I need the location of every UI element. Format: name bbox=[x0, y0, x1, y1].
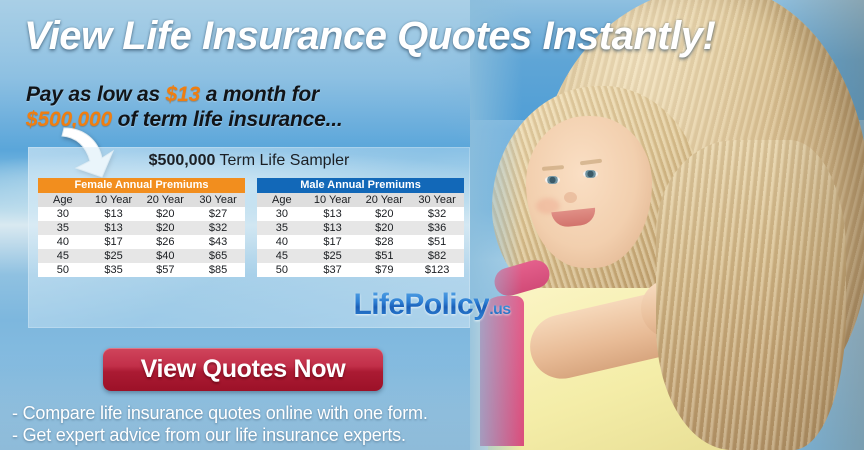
benefit-bullets: - Compare life insurance quotes online w… bbox=[12, 402, 482, 446]
child-face bbox=[526, 116, 652, 268]
cell-age: 35 bbox=[38, 221, 88, 235]
cell-20-year: $79 bbox=[358, 263, 410, 277]
cell-30-year: $123 bbox=[410, 263, 464, 277]
table: Age 10 Year 20 Year 30 Year 30 $13 $20 $… bbox=[38, 193, 245, 277]
logo-tld: .us bbox=[489, 301, 510, 318]
cell-10-year: $35 bbox=[88, 263, 140, 277]
cell-age: 50 bbox=[38, 263, 88, 277]
child-nose bbox=[564, 192, 577, 203]
table-row: 35 $13 $20 $32 bbox=[38, 221, 245, 235]
subhead-line2-post: of term life insurance... bbox=[112, 108, 343, 131]
panel-title-rest: Term Life Sampler bbox=[215, 152, 349, 169]
bullet-item: - Compare life insurance quotes online w… bbox=[12, 402, 482, 424]
cell-20-year: $20 bbox=[139, 221, 191, 235]
table-row: 50 $37 $79 $123 bbox=[257, 263, 464, 277]
cell-10-year: $17 bbox=[88, 235, 140, 249]
female-table-header: Female Annual Premiums bbox=[38, 178, 245, 193]
cell-30-year: $36 bbox=[410, 221, 464, 235]
table-row: 45 $25 $40 $65 bbox=[38, 249, 245, 263]
table-row: 50 $35 $57 $85 bbox=[38, 263, 245, 277]
cell-30-year: $27 bbox=[191, 207, 245, 221]
cell-age: 50 bbox=[257, 263, 307, 277]
cell-age: 35 bbox=[257, 221, 307, 235]
cell-20-year: $28 bbox=[358, 235, 410, 249]
cell-10-year: $25 bbox=[88, 249, 140, 263]
cell-10-year: $17 bbox=[307, 235, 359, 249]
cell-20-year: $40 bbox=[139, 249, 191, 263]
cell-10-year: $13 bbox=[307, 221, 359, 235]
column-header-10-year: 10 Year bbox=[88, 193, 140, 207]
mother-and-child-photo bbox=[470, 0, 864, 450]
cell-10-year: $13 bbox=[88, 207, 140, 221]
child-eye-left bbox=[545, 176, 560, 184]
table: Age 10 Year 20 Year 30 Year 30 $13 $20 $… bbox=[257, 193, 464, 277]
table-row: 40 $17 $26 $43 bbox=[38, 235, 245, 249]
ad-banner: View Life Insurance Quotes Instantly! Pa… bbox=[0, 0, 864, 450]
cell-age: 30 bbox=[38, 207, 88, 221]
cell-20-year: $20 bbox=[139, 207, 191, 221]
female-premium-table: Female Annual Premiums Age 10 Year 20 Ye… bbox=[38, 178, 245, 277]
cell-30-year: $32 bbox=[191, 221, 245, 235]
site-logo[interactable]: LifePolicy.us bbox=[0, 288, 864, 322]
column-header-20-year: 20 Year bbox=[139, 193, 191, 207]
column-header-10-year: 10 Year bbox=[307, 193, 359, 207]
table-row: 30 $13 $20 $32 bbox=[257, 207, 464, 221]
table-row: 45 $25 $51 $82 bbox=[257, 249, 464, 263]
table-header-row: Age 10 Year 20 Year 30 Year bbox=[257, 193, 464, 207]
cell-age: 40 bbox=[38, 235, 88, 249]
cell-age: 30 bbox=[257, 207, 307, 221]
cell-30-year: $43 bbox=[191, 235, 245, 249]
bullet-item: - Get expert advice from our life insura… bbox=[12, 424, 482, 446]
cell-20-year: $57 bbox=[139, 263, 191, 277]
cell-20-year: $26 bbox=[139, 235, 191, 249]
column-header-30-year: 30 Year bbox=[410, 193, 464, 207]
subhead-price-monthly: $13 bbox=[166, 83, 200, 106]
male-premium-table: Male Annual Premiums Age 10 Year 20 Year… bbox=[257, 178, 464, 277]
premium-tables: Female Annual Premiums Age 10 Year 20 Ye… bbox=[38, 178, 464, 277]
cell-30-year: $51 bbox=[410, 235, 464, 249]
cell-10-year: $37 bbox=[307, 263, 359, 277]
cell-30-year: $32 bbox=[410, 207, 464, 221]
table-header-row: Age 10 Year 20 Year 30 Year bbox=[38, 193, 245, 207]
cell-10-year: $13 bbox=[307, 207, 359, 221]
photo-left-fade bbox=[470, 0, 522, 450]
panel-title: $500,000 Term Life Sampler bbox=[28, 152, 470, 170]
child-eye-right bbox=[583, 170, 598, 178]
column-header-20-year: 20 Year bbox=[358, 193, 410, 207]
cell-10-year: $25 bbox=[307, 249, 359, 263]
page-title: View Life Insurance Quotes Instantly! bbox=[24, 14, 715, 59]
male-table-header: Male Annual Premiums bbox=[257, 178, 464, 193]
cell-age: 40 bbox=[257, 235, 307, 249]
cell-age: 45 bbox=[38, 249, 88, 263]
logo-name: LifePolicy bbox=[353, 288, 489, 321]
cell-30-year: $82 bbox=[410, 249, 464, 263]
cell-20-year: $20 bbox=[358, 221, 410, 235]
column-header-30-year: 30 Year bbox=[191, 193, 245, 207]
cell-10-year: $13 bbox=[88, 221, 140, 235]
panel-title-amount: $500,000 bbox=[149, 152, 216, 169]
table-row: 35 $13 $20 $36 bbox=[257, 221, 464, 235]
subhead-line1-post: a month for bbox=[200, 83, 319, 106]
column-header-age: Age bbox=[257, 193, 307, 207]
table-row: 30 $13 $20 $27 bbox=[38, 207, 245, 221]
cell-30-year: $85 bbox=[191, 263, 245, 277]
table-row: 40 $17 $28 $51 bbox=[257, 235, 464, 249]
view-quotes-now-button[interactable]: View Quotes Now bbox=[103, 348, 383, 391]
cell-age: 45 bbox=[257, 249, 307, 263]
column-header-age: Age bbox=[38, 193, 88, 207]
cell-20-year: $51 bbox=[358, 249, 410, 263]
photo-right-shadow bbox=[770, 0, 864, 450]
cell-30-year: $65 bbox=[191, 249, 245, 263]
cell-20-year: $20 bbox=[358, 207, 410, 221]
subheadline: Pay as low as $13 a month for $500,000 o… bbox=[26, 82, 426, 132]
subhead-line1-pre: Pay as low as bbox=[26, 83, 166, 106]
